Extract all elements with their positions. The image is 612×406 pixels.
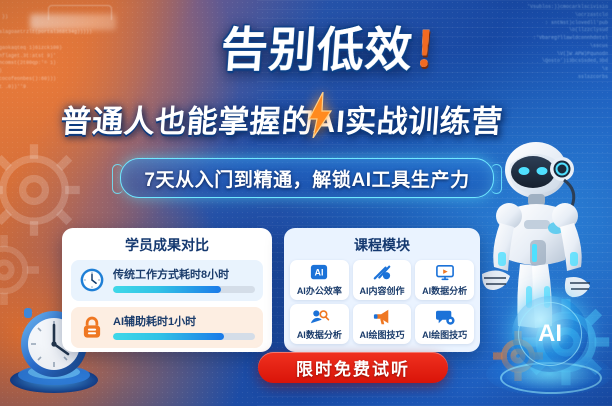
vignette-overlay (0, 0, 612, 406)
lightning-bolt-icon (307, 92, 333, 138)
promo-poster: } }) } ,alagoaetrzlt(portal368t34g))))) … (0, 0, 612, 406)
